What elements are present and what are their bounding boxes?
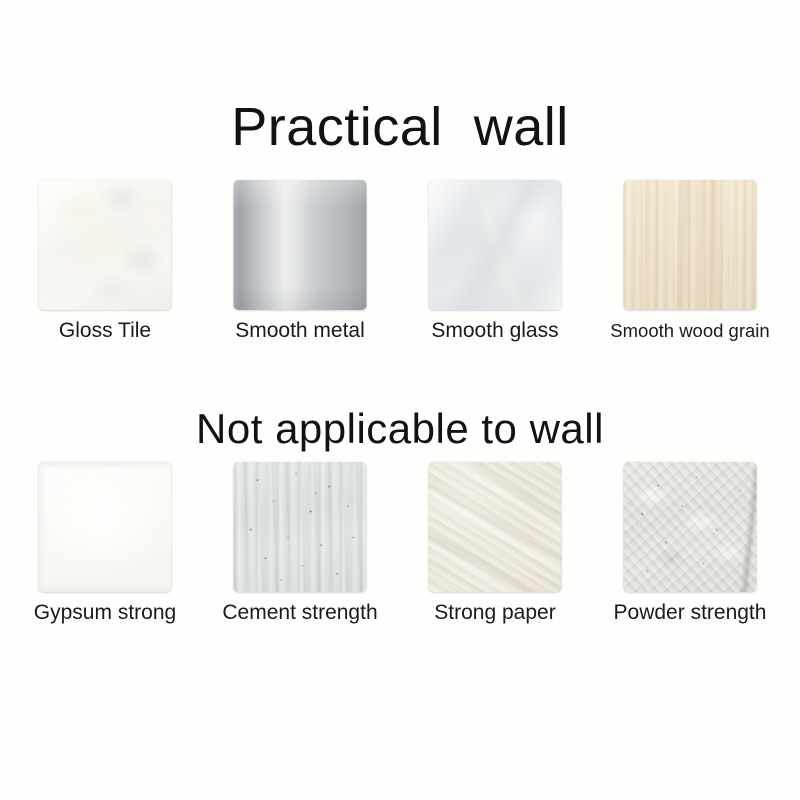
material-label-strong-paper: Strong paper [400, 600, 590, 626]
material-card-smooth-metal[interactable]: Smooth metal [205, 180, 395, 350]
section-heading-not-applicable: Not applicable to wall [0, 404, 800, 454]
material-row-not-applicable: Gypsum strong Cement strength Strong pap… [0, 462, 800, 632]
material-swatch-cement-strength [234, 462, 367, 592]
gloss-tile-texture [39, 180, 172, 310]
material-card-cement-strength[interactable]: Cement strength [205, 462, 395, 632]
smooth-glass-texture [429, 180, 562, 310]
material-card-gloss-tile[interactable]: Gloss Tile [10, 180, 200, 350]
material-label-cement-strength: Cement strength [205, 600, 395, 626]
material-card-strong-paper[interactable]: Strong paper [400, 462, 590, 632]
wood-grain-texture [624, 180, 757, 310]
material-label-gloss-tile: Gloss Tile [10, 318, 200, 344]
material-swatch-smooth-glass [429, 180, 562, 310]
paper-texture [429, 462, 562, 592]
smooth-metal-texture [234, 180, 367, 310]
material-swatch-smooth-metal [234, 180, 367, 310]
material-label-smooth-wood-grain: Smooth wood grain [595, 318, 785, 344]
powder-texture [624, 462, 757, 592]
material-label-smooth-glass: Smooth glass [400, 318, 590, 344]
material-label-gypsum-strong: Gypsum strong [10, 600, 200, 626]
material-card-gypsum-strong[interactable]: Gypsum strong [10, 462, 200, 632]
material-label-smooth-metal: Smooth metal [205, 318, 395, 344]
material-card-smooth-glass[interactable]: Smooth glass [400, 180, 590, 350]
material-comparison-board: Practical wall Gloss Tile Smooth metal S… [0, 0, 800, 800]
section-heading-practical: Practical wall [0, 96, 800, 158]
gypsum-texture [39, 462, 172, 592]
material-swatch-powder-strength [624, 462, 757, 592]
material-card-powder-strength[interactable]: Powder strength [595, 462, 785, 632]
material-swatch-smooth-wood-grain [624, 180, 757, 310]
material-swatch-strong-paper [429, 462, 562, 592]
material-swatch-gypsum-strong [39, 462, 172, 592]
material-swatch-gloss-tile [39, 180, 172, 310]
cement-texture [234, 462, 367, 592]
material-label-powder-strength: Powder strength [595, 600, 785, 626]
material-row-practical: Gloss Tile Smooth metal Smooth glass Smo… [0, 180, 800, 350]
material-card-smooth-wood-grain[interactable]: Smooth wood grain [595, 180, 785, 350]
